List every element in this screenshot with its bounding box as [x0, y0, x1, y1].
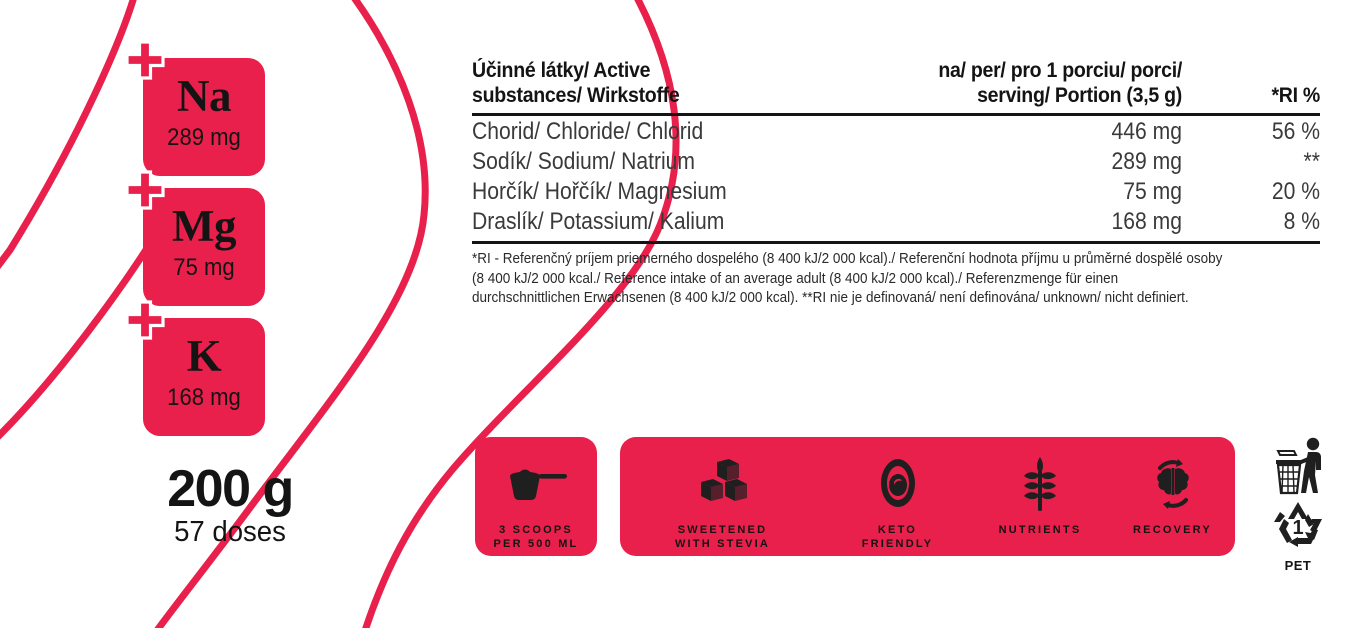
badge-label-line1: KETO [878, 524, 917, 536]
scoop-icon [500, 464, 572, 504]
badge-label-line2: FRIENDLY [862, 538, 934, 550]
header-serving-line2: serving/ Portion (3,5 g) [977, 84, 1182, 107]
recycling-marks: 1 PET [1262, 437, 1334, 573]
row-ri: ** [1199, 146, 1320, 176]
badge-label-line2: PER 500 ML [494, 538, 579, 550]
row-ri: 56 % [1199, 115, 1320, 147]
plus-icon [125, 300, 165, 340]
row-amount: 75 mg [944, 176, 1182, 206]
tidyman-icon [1268, 437, 1328, 495]
badge-nutrients: NUTRIENTS [970, 437, 1110, 556]
row-ri: 20 % [1199, 176, 1320, 206]
badge-recovery: RECOVERY [1110, 437, 1235, 556]
badge-keto: KETO FRIENDLY [825, 437, 970, 556]
badge-group-wide: SWEETENED WITH STEVIA KETO FRIENDLY [620, 437, 1235, 556]
header-substances: Účinné látky/ Active substances/ Wirksto… [472, 58, 881, 115]
badge-label-line1: 3 SCOOPS [499, 524, 573, 536]
row-name: Sodík/ Sodium/ Natrium [472, 146, 859, 176]
package-doses: 57 doses [135, 516, 325, 549]
table-row: Horčík/ Hořčík/ Magnesium 75 mg 20 % [472, 176, 1320, 206]
header-serving: na/ per/ pro 1 porciu/ porci/ serving/ P… [931, 58, 1182, 115]
mineral-amount: 289 mg [148, 124, 260, 152]
header-ri: *RI % [1192, 58, 1320, 115]
package-weight: 200 g [130, 462, 330, 516]
header-substances-line2: substances/ Wirkstoffe [472, 84, 679, 107]
mineral-badge-potassium: K 168 mg [143, 318, 265, 436]
badge-scoops: 3 SCOOPS PER 500 ML [475, 437, 597, 556]
table-row: Draslík/ Potassium/ Kalium 168 mg 8 % [472, 206, 1320, 236]
badge-label-line1: SWEETENED [678, 524, 767, 536]
package-weight-block: 200 g 57 doses [130, 462, 330, 549]
mineral-badge-magnesium: Mg 75 mg [143, 188, 265, 306]
row-name: Chorid/ Chloride/ Chlorid [472, 115, 859, 147]
row-amount: 446 mg [944, 115, 1182, 147]
nutrition-table-block: Účinné látky/ Active substances/ Wirksto… [472, 58, 1320, 308]
recycling-code: 1 [1292, 517, 1303, 539]
footnote-line3: durchschnittlichen Erwachsenen (8 400 kJ… [472, 289, 1189, 306]
recycling-material-label: PET [1262, 558, 1334, 573]
nutrition-footnote: *RI - Referenčný príjem priemerného dosp… [472, 249, 1319, 308]
curve-far-left [0, 0, 136, 290]
badge-label-line2: WITH STEVIA [675, 538, 770, 550]
mineral-badge-list: Na 289 mg Mg 75 mg K 168 mg [143, 58, 333, 448]
header-serving-line1: na/ per/ pro 1 porciu/ porci/ [938, 59, 1182, 82]
row-ri: 8 % [1199, 206, 1320, 236]
row-amount: 289 mg [944, 146, 1182, 176]
wheat-icon [1020, 457, 1060, 511]
badge-label-line1: NUTRIENTS [999, 524, 1082, 536]
sugar-cubes-icon [695, 458, 751, 510]
row-name: Horčík/ Hořčík/ Magnesium [472, 176, 859, 206]
row-name: Draslík/ Potassium/ Kalium [472, 206, 859, 236]
row-amount: 168 mg [944, 206, 1182, 236]
recycling-triangle-icon: 1 [1268, 500, 1328, 552]
table-row: Sodík/ Sodium/ Natrium 289 mg ** [472, 146, 1320, 176]
table-header-row: Účinné látky/ Active substances/ Wirksto… [472, 58, 1320, 115]
badge-stevia: SWEETENED WITH STEVIA [620, 437, 825, 556]
mineral-amount: 75 mg [148, 254, 260, 282]
table-row: Chorid/ Chloride/ Chlorid 446 mg 56 % [472, 115, 1320, 147]
table-bottom-rule [472, 241, 1320, 244]
brain-recovery-icon [1147, 458, 1199, 510]
avocado-icon [875, 457, 921, 511]
badge-label-line1: RECOVERY [1133, 524, 1212, 536]
mineral-amount: 168 mg [148, 384, 260, 412]
footnote-line2: (8 400 kJ/2 000 kcal./ Reference intake … [472, 270, 1118, 287]
plus-icon [125, 170, 165, 210]
nutrition-table: Účinné látky/ Active substances/ Wirksto… [472, 58, 1320, 236]
plus-icon [125, 40, 165, 80]
header-substances-line1: Účinné látky/ Active [472, 59, 650, 82]
footnote-line1: *RI - Referenčný príjem priemerného dosp… [472, 250, 1222, 267]
mineral-badge-sodium: Na 289 mg [143, 58, 265, 176]
